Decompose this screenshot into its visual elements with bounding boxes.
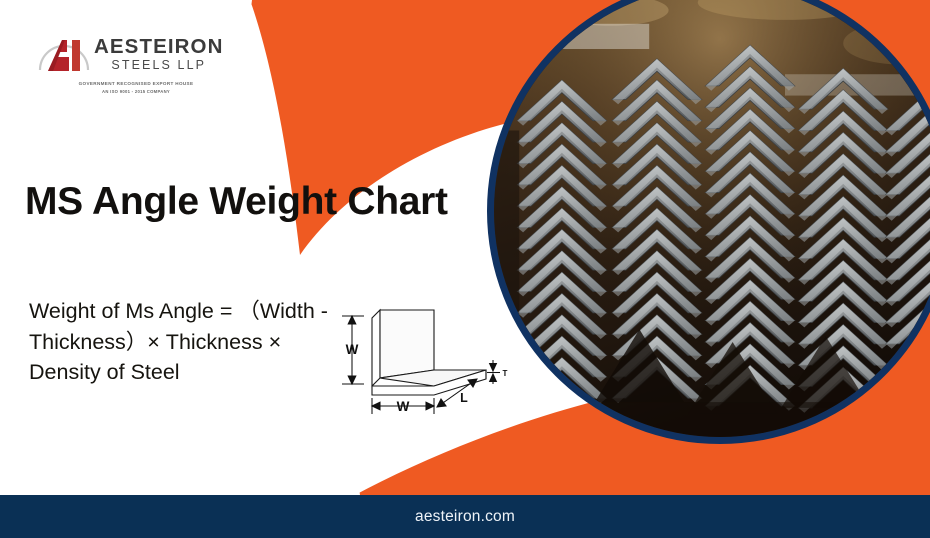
logo-wordmark: AESTEIRON STEELS LLP (94, 35, 224, 72)
diagram-label-height: W (346, 342, 359, 357)
footer-bar: aesteiron.com (0, 495, 930, 538)
logo-tagline-iso: AN ISO 9001 - 2015 COMPANY (36, 89, 236, 94)
diagram-label-length: L (460, 391, 468, 405)
brand-logo: AESTEIRON STEELS LLP GOVERNMENT RECOGNIS… (36, 30, 236, 102)
diagram-label-width: W (397, 399, 410, 414)
hero-photo-image (494, 0, 930, 437)
page-title: MS Angle Weight Chart (25, 180, 448, 224)
diagram-label-thickness: T (503, 369, 508, 378)
poster-canvas: AESTEIRON STEELS LLP GOVERNMENT RECOGNIS… (0, 0, 930, 538)
weight-formula-text: Weight of Ms Angle = （Width - Thickness）… (29, 296, 329, 388)
footer-website-link[interactable]: aesteiron.com (415, 508, 515, 526)
logo-company-name: AESTEIRON (94, 37, 224, 58)
logo-tagline-export-house: GOVERNMENT RECOGNISED EXPORT HOUSE (36, 81, 236, 86)
angle-section-diagram: W W L T (334, 302, 512, 418)
logo-company-subtitle: STEELS LLP (94, 59, 224, 72)
logo-row: AESTEIRON STEELS LLP (36, 30, 236, 76)
logo-monogram-icon (36, 30, 92, 76)
